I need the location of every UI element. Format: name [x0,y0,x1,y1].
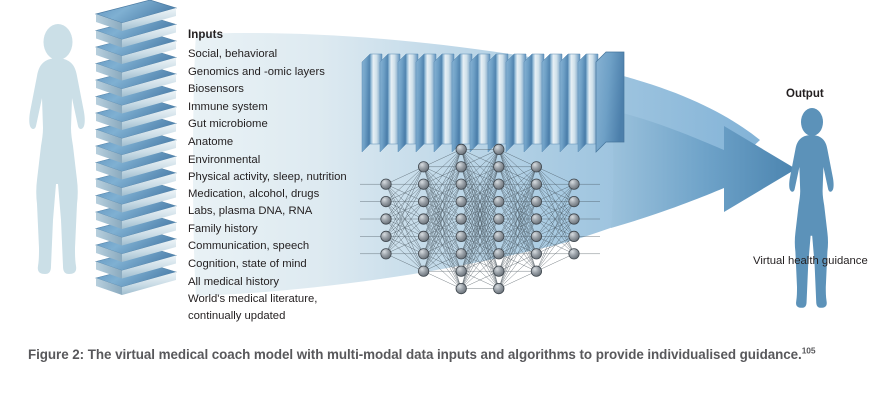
inputs-item-list: Social, behavioralGenomics and -omic lay… [188,46,363,324]
caption-reference: 105 [802,346,816,356]
input-item: Genomics and -omic layers [188,64,363,82]
input-item: Gut microbiome [188,116,363,134]
input-item: All medical history [188,274,363,292]
input-item: Social, behavioral [188,46,363,64]
figure-vector-graphic [0,0,890,330]
output-heading: Output [786,88,824,100]
caption-text: Figure 2: The virtual medical coach mode… [28,347,802,362]
output-sublabel: Virtual health guidance [753,255,868,267]
input-person-silhouette [29,24,85,274]
inputs-heading: Inputs [188,28,363,42]
input-item: Family history [188,221,363,239]
input-item: Medication, alcohol, drugs [188,186,363,204]
input-item: Communication, speech [188,238,363,256]
input-item: World's medical literature, continually … [188,291,363,324]
input-item: Labs, plasma DNA, RNA [188,203,363,221]
input-item: Physical activity, sleep, nutrition [188,169,363,186]
input-item: Cognition, state of mind [188,256,363,274]
input-item: Biosensors [188,81,363,99]
data-slab-array [362,52,624,152]
figure-caption: Figure 2: The virtual medical coach mode… [28,344,840,365]
input-item: Immune system [188,99,363,117]
inputs-panel: Inputs Social, behavioralGenomics and -o… [188,28,363,324]
output-person-silhouette [789,108,833,308]
input-data-stack [96,0,176,295]
input-item: Anatome [188,134,363,152]
figure-illustration: Inputs Social, behavioralGenomics and -o… [0,0,890,330]
input-item: Environmental [188,152,363,170]
